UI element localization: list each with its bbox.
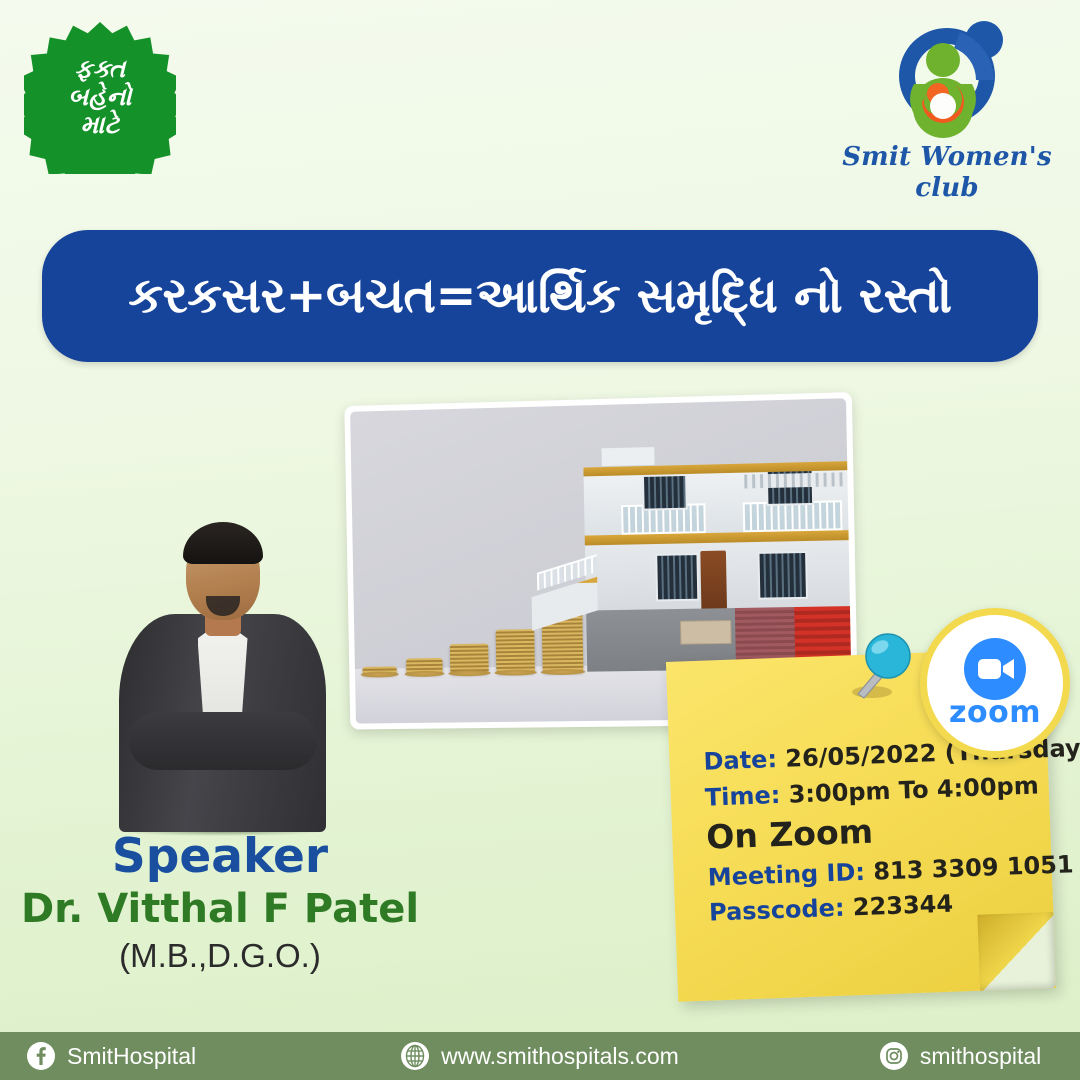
facebook-icon bbox=[26, 1041, 56, 1071]
time-value: 3:00pm To 4:00pm bbox=[788, 771, 1039, 808]
brand-name: Smit Women's club bbox=[842, 142, 1052, 203]
date-label: Date: bbox=[703, 745, 777, 776]
women-only-badge: ફક્ત બહેનો માટે bbox=[24, 22, 176, 174]
house-pergola bbox=[744, 472, 847, 488]
house-window-ground-right bbox=[758, 551, 808, 600]
speaker-folded-arms bbox=[129, 712, 317, 770]
zoom-wordmark: zoom bbox=[949, 698, 1041, 728]
poster-canvas: ફક્ત બહેનો માટે Smit Women's club કરકસર+… bbox=[0, 0, 1080, 1080]
brand-logo: Smit Women's club bbox=[842, 18, 1052, 203]
poster-title: કરકસર+બચત=આર્થિક સમૃદ્ધિ નો રસ્તો bbox=[102, 270, 977, 322]
footer-bar: SmitHospital www.smithospitals.com bbox=[0, 1032, 1080, 1080]
house-terrace-room bbox=[601, 446, 656, 467]
house-illustration bbox=[583, 454, 851, 671]
video-camera-icon bbox=[964, 638, 1026, 700]
facebook-handle: SmitHospital bbox=[67, 1043, 196, 1070]
brand-line-1: Smit Women's bbox=[842, 142, 1052, 173]
website-url: www.smithospitals.com bbox=[441, 1043, 679, 1070]
note-curled-corner bbox=[977, 912, 1056, 991]
coin-stack-2 bbox=[406, 658, 443, 674]
footer-instagram[interactable]: smithospital bbox=[879, 1041, 1041, 1071]
badge-line-2: બહેનો bbox=[68, 84, 132, 112]
house-window-ground-left bbox=[655, 553, 699, 601]
instagram-handle: smithospital bbox=[920, 1043, 1041, 1070]
coin-stack-4 bbox=[496, 629, 535, 673]
footer-facebook[interactable]: SmitHospital bbox=[26, 1041, 196, 1071]
house-front-door bbox=[700, 551, 727, 609]
mother-and-child-logo-icon bbox=[842, 18, 1052, 146]
title-banner: કરકસર+બચત=આર્થિક સમૃદ્ધિ નો રસ્તો bbox=[42, 230, 1038, 362]
passcode-label: Passcode: bbox=[709, 894, 845, 927]
meeting-details-list: Date: 26/05/2022 (Thursday) Time: 3:00pm… bbox=[703, 733, 1040, 932]
pushpin-icon bbox=[848, 628, 914, 700]
globe-icon bbox=[400, 1041, 430, 1071]
passcode-value: 223344 bbox=[852, 890, 953, 922]
house-window-upper-left bbox=[642, 474, 688, 511]
speaker-name: Dr. Vitthal F Patel bbox=[10, 888, 430, 931]
speaker-qualification: (M.B.,D.G.O.) bbox=[10, 938, 430, 974]
coin-stack-3 bbox=[450, 644, 489, 674]
badge-text: ફક્ત બહેનો માટે bbox=[68, 56, 132, 140]
zoom-platform-badge: zoom bbox=[920, 608, 1070, 758]
instagram-icon bbox=[879, 1041, 909, 1071]
speaker-label: Speaker bbox=[10, 832, 430, 882]
speaker-hair bbox=[183, 522, 263, 564]
badge-line-1: ફક્ત bbox=[68, 56, 132, 84]
meeting-id-label: Meeting ID: bbox=[707, 857, 865, 891]
badge-line-3: માટે bbox=[68, 112, 132, 140]
speaker-info: Speaker Dr. Vitthal F Patel (M.B.,D.G.O.… bbox=[10, 832, 430, 974]
speaker-photo bbox=[115, 492, 330, 832]
footer-website[interactable]: www.smithospitals.com bbox=[400, 1041, 679, 1071]
house-nameplate bbox=[680, 620, 732, 645]
time-label: Time: bbox=[704, 780, 780, 811]
meeting-id-value: 813 3309 1051 bbox=[873, 850, 1074, 885]
coin-stack-1 bbox=[362, 666, 396, 674]
brand-line-2: club bbox=[842, 173, 1052, 204]
